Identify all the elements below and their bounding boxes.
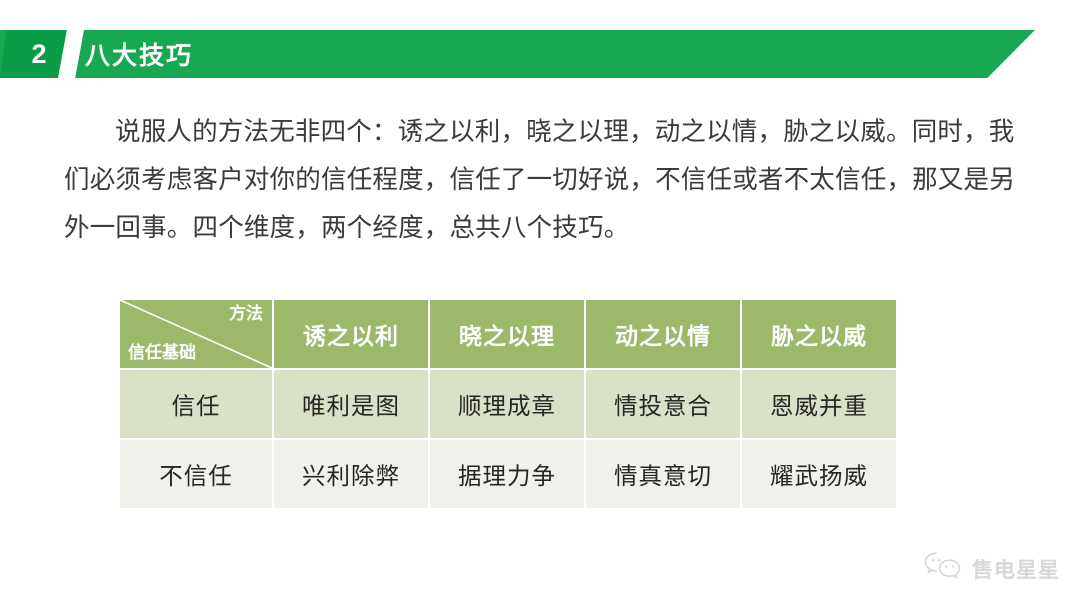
cell-trust-3: 情投意合 xyxy=(586,370,740,438)
watermark: 售电星星 xyxy=(923,550,1060,587)
watermark-text: 售电星星 xyxy=(972,554,1060,584)
cell-distrust-4: 耀武扬威 xyxy=(742,440,896,508)
cell-distrust-1: 兴利除弊 xyxy=(274,440,428,508)
cell-trust-1: 唯利是图 xyxy=(274,370,428,438)
matrix-table-wrapper: 方法 信任基础 诱之以利 晓之以理 动之以情 胁之以威 信任 唯利是图 顺理成章… xyxy=(120,300,890,508)
table-row: 信任 唯利是图 顺理成章 情投意合 恩威并重 xyxy=(120,370,896,438)
table-header-cell-4: 胁之以威 xyxy=(742,300,896,368)
table-header-row: 方法 信任基础 诱之以利 晓之以理 动之以情 胁之以威 xyxy=(120,300,896,368)
row-label-distrust: 不信任 xyxy=(120,440,272,508)
wechat-icon-glyph xyxy=(923,550,963,582)
table-header-cell-1: 诱之以利 xyxy=(274,300,428,368)
cell-distrust-2: 据理力争 xyxy=(430,440,584,508)
body-paragraph: 说服人的方法无非四个：诱之以利，晓之以理，动之以情，胁之以威。同时，我们必须考虑… xyxy=(64,108,1019,252)
table-header-cell-2: 晓之以理 xyxy=(430,300,584,368)
cell-trust-2: 顺理成章 xyxy=(430,370,584,438)
table-corner-cell: 方法 信任基础 xyxy=(120,300,272,368)
row-label-trust: 信任 xyxy=(120,370,272,438)
page-title: 八大技巧 xyxy=(85,30,193,78)
wechat-icon xyxy=(923,550,963,587)
table-row: 不信任 兴利除弊 据理力争 情真意切 耀武扬威 xyxy=(120,440,896,508)
cell-distrust-3: 情真意切 xyxy=(586,440,740,508)
table-header-cell-3: 动之以情 xyxy=(586,300,740,368)
header-number: 2 xyxy=(0,30,76,78)
corner-column-label: 方法 xyxy=(229,305,263,324)
corner-row-label: 信任基础 xyxy=(128,344,196,363)
cell-trust-4: 恩威并重 xyxy=(742,370,896,438)
persuasion-matrix-table: 方法 信任基础 诱之以利 晓之以理 动之以情 胁之以威 信任 唯利是图 顺理成章… xyxy=(118,298,898,510)
